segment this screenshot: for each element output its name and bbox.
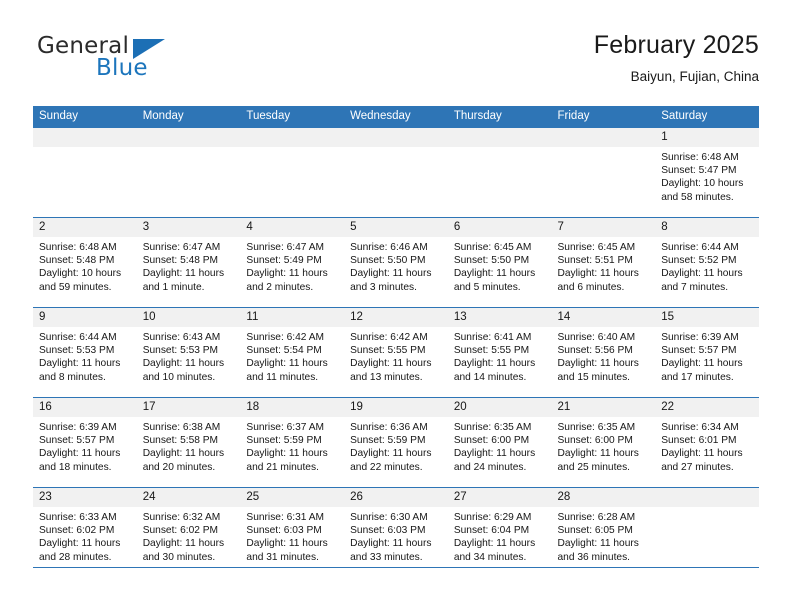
day-number: 9 — [33, 308, 137, 327]
sunrise-time: Sunrise: 6:30 AM — [350, 511, 442, 524]
day-details: Sunrise: 6:41 AMSunset: 5:55 PMDaylight:… — [448, 327, 552, 384]
weekday-header-saturday: Saturday — [655, 106, 759, 128]
daylight-duration-line1: Daylight: 11 hours — [661, 447, 753, 460]
calendar-page: General Blue February 2025 Baiyun, Fujia… — [0, 0, 792, 612]
day-cell: 28Sunrise: 6:28 AMSunset: 6:05 PMDayligh… — [552, 488, 656, 567]
day-details: Sunrise: 6:42 AMSunset: 5:55 PMDaylight:… — [344, 327, 448, 384]
calendar-cell-empty — [344, 128, 448, 218]
day-number: 7 — [552, 218, 656, 237]
daylight-duration-line2: and 10 minutes. — [143, 371, 235, 384]
day-details: Sunrise: 6:39 AMSunset: 5:57 PMDaylight:… — [33, 417, 137, 474]
daylight-duration-line1: Daylight: 11 hours — [350, 357, 442, 370]
calendar-cell-day[interactable]: 18Sunrise: 6:37 AMSunset: 5:59 PMDayligh… — [240, 398, 344, 488]
day-number: 20 — [448, 398, 552, 417]
day-details: Sunrise: 6:43 AMSunset: 5:53 PMDaylight:… — [137, 327, 241, 384]
page-header: General Blue February 2025 Baiyun, Fujia… — [33, 28, 759, 98]
day-cell: 18Sunrise: 6:37 AMSunset: 5:59 PMDayligh… — [240, 398, 344, 487]
day-details: Sunrise: 6:35 AMSunset: 6:00 PMDaylight:… — [552, 417, 656, 474]
day-cell: 16Sunrise: 6:39 AMSunset: 5:57 PMDayligh… — [33, 398, 137, 487]
calendar-week-row: 16Sunrise: 6:39 AMSunset: 5:57 PMDayligh… — [33, 398, 759, 488]
calendar-cell-day[interactable]: 8Sunrise: 6:44 AMSunset: 5:52 PMDaylight… — [655, 218, 759, 308]
day-cell: 24Sunrise: 6:32 AMSunset: 6:02 PMDayligh… — [137, 488, 241, 567]
daylight-duration-line2: and 7 minutes. — [661, 281, 753, 294]
calendar-cell-empty — [137, 128, 241, 218]
calendar-cell-day[interactable]: 5Sunrise: 6:46 AMSunset: 5:50 PMDaylight… — [344, 218, 448, 308]
day-number: 24 — [137, 488, 241, 507]
daylight-duration-line2: and 18 minutes. — [39, 461, 131, 474]
sunrise-time: Sunrise: 6:47 AM — [246, 241, 338, 254]
page-title: February 2025 — [594, 28, 759, 62]
day-number: 11 — [240, 308, 344, 327]
calendar-cell-empty — [240, 128, 344, 218]
calendar-cell-day[interactable]: 7Sunrise: 6:45 AMSunset: 5:51 PMDaylight… — [552, 218, 656, 308]
daylight-duration-line1: Daylight: 11 hours — [143, 357, 235, 370]
daylight-duration-line2: and 30 minutes. — [143, 551, 235, 564]
day-details: Sunrise: 6:47 AMSunset: 5:48 PMDaylight:… — [137, 237, 241, 294]
sunrise-time: Sunrise: 6:31 AM — [246, 511, 338, 524]
daylight-duration-line2: and 14 minutes. — [454, 371, 546, 384]
day-number: 15 — [655, 308, 759, 327]
sunset-time: Sunset: 5:55 PM — [454, 344, 546, 357]
calendar-cell-day[interactable]: 1Sunrise: 6:48 AMSunset: 5:47 PMDaylight… — [655, 128, 759, 218]
daylight-duration-line2: and 28 minutes. — [39, 551, 131, 564]
daylight-duration-line1: Daylight: 11 hours — [661, 267, 753, 280]
daylight-duration-line2: and 25 minutes. — [558, 461, 650, 474]
day-cell: 5Sunrise: 6:46 AMSunset: 5:50 PMDaylight… — [344, 218, 448, 307]
day-cell: 23Sunrise: 6:33 AMSunset: 6:02 PMDayligh… — [33, 488, 137, 567]
day-details: Sunrise: 6:42 AMSunset: 5:54 PMDaylight:… — [240, 327, 344, 384]
daylight-duration-line2: and 11 minutes. — [246, 371, 338, 384]
day-cell: 4Sunrise: 6:47 AMSunset: 5:49 PMDaylight… — [240, 218, 344, 307]
sunrise-time: Sunrise: 6:28 AM — [558, 511, 650, 524]
weekday-header-row: Sunday Monday Tuesday Wednesday Thursday… — [33, 106, 759, 128]
daylight-duration-line2: and 21 minutes. — [246, 461, 338, 474]
daylight-duration-line1: Daylight: 11 hours — [454, 447, 546, 460]
sunrise-time: Sunrise: 6:34 AM — [661, 421, 753, 434]
calendar-week-row: 9Sunrise: 6:44 AMSunset: 5:53 PMDaylight… — [33, 308, 759, 398]
day-number: 5 — [344, 218, 448, 237]
sunset-time: Sunset: 5:59 PM — [246, 434, 338, 447]
daylight-duration-line1: Daylight: 10 hours — [39, 267, 131, 280]
day-details: Sunrise: 6:35 AMSunset: 6:00 PMDaylight:… — [448, 417, 552, 474]
sunrise-sunset-calendar: Sunday Monday Tuesday Wednesday Thursday… — [33, 106, 759, 568]
sunrise-time: Sunrise: 6:42 AM — [246, 331, 338, 344]
sunset-time: Sunset: 6:00 PM — [558, 434, 650, 447]
sunset-time: Sunset: 5:54 PM — [246, 344, 338, 357]
day-number — [448, 128, 552, 147]
weekday-header-sunday: Sunday — [33, 106, 137, 128]
calendar-cell-day[interactable]: 9Sunrise: 6:44 AMSunset: 5:53 PMDaylight… — [33, 308, 137, 398]
sunset-time: Sunset: 6:03 PM — [246, 524, 338, 537]
sunset-time: Sunset: 6:02 PM — [39, 524, 131, 537]
sunset-time: Sunset: 5:53 PM — [39, 344, 131, 357]
sunrise-time: Sunrise: 6:43 AM — [143, 331, 235, 344]
location-subtitle: Baiyun, Fujian, China — [594, 67, 759, 87]
day-cell: 9Sunrise: 6:44 AMSunset: 5:53 PMDaylight… — [33, 308, 137, 397]
calendar-cell-empty — [552, 128, 656, 218]
sunrise-time: Sunrise: 6:46 AM — [350, 241, 442, 254]
sunrise-time: Sunrise: 6:45 AM — [558, 241, 650, 254]
sunset-time: Sunset: 6:02 PM — [143, 524, 235, 537]
day-details: Sunrise: 6:32 AMSunset: 6:02 PMDaylight:… — [137, 507, 241, 564]
sunrise-time: Sunrise: 6:42 AM — [350, 331, 442, 344]
day-details: Sunrise: 6:45 AMSunset: 5:50 PMDaylight:… — [448, 237, 552, 294]
sunset-time: Sunset: 5:55 PM — [350, 344, 442, 357]
day-cell: 15Sunrise: 6:39 AMSunset: 5:57 PMDayligh… — [655, 308, 759, 397]
calendar-cell-day[interactable]: 22Sunrise: 6:34 AMSunset: 6:01 PMDayligh… — [655, 398, 759, 488]
day-details: Sunrise: 6:40 AMSunset: 5:56 PMDaylight:… — [552, 327, 656, 384]
daylight-duration-line1: Daylight: 11 hours — [350, 447, 442, 460]
daylight-duration-line1: Daylight: 11 hours — [143, 537, 235, 550]
day-details: Sunrise: 6:29 AMSunset: 6:04 PMDaylight:… — [448, 507, 552, 564]
day-number — [344, 128, 448, 147]
calendar-cell-day[interactable]: 20Sunrise: 6:35 AMSunset: 6:00 PMDayligh… — [448, 398, 552, 488]
daylight-duration-line1: Daylight: 11 hours — [454, 267, 546, 280]
day-number: 23 — [33, 488, 137, 507]
day-cell: 25Sunrise: 6:31 AMSunset: 6:03 PMDayligh… — [240, 488, 344, 567]
day-number — [137, 128, 241, 147]
sunset-time: Sunset: 6:00 PM — [454, 434, 546, 447]
sunset-time: Sunset: 5:57 PM — [39, 434, 131, 447]
sunrise-time: Sunrise: 6:38 AM — [143, 421, 235, 434]
sunset-time: Sunset: 5:57 PM — [661, 344, 753, 357]
day-details: Sunrise: 6:44 AMSunset: 5:53 PMDaylight:… — [33, 327, 137, 384]
day-cell: 12Sunrise: 6:42 AMSunset: 5:55 PMDayligh… — [344, 308, 448, 397]
day-number: 19 — [344, 398, 448, 417]
sunrise-time: Sunrise: 6:44 AM — [39, 331, 131, 344]
generalblue-logo[interactable]: General Blue — [37, 33, 237, 89]
sunset-time: Sunset: 5:50 PM — [454, 254, 546, 267]
day-cell: 11Sunrise: 6:42 AMSunset: 5:54 PMDayligh… — [240, 308, 344, 397]
day-details: Sunrise: 6:47 AMSunset: 5:49 PMDaylight:… — [240, 237, 344, 294]
day-cell: 22Sunrise: 6:34 AMSunset: 6:01 PMDayligh… — [655, 398, 759, 487]
calendar-cell-day[interactable]: 4Sunrise: 6:47 AMSunset: 5:49 PMDaylight… — [240, 218, 344, 308]
sunset-time: Sunset: 5:51 PM — [558, 254, 650, 267]
sunset-time: Sunset: 5:58 PM — [143, 434, 235, 447]
sunrise-time: Sunrise: 6:35 AM — [454, 421, 546, 434]
sunset-time: Sunset: 5:52 PM — [661, 254, 753, 267]
day-number: 25 — [240, 488, 344, 507]
sunrise-time: Sunrise: 6:36 AM — [350, 421, 442, 434]
calendar-cell-day[interactable]: 3Sunrise: 6:47 AMSunset: 5:48 PMDaylight… — [137, 218, 241, 308]
calendar-week-row: 1Sunrise: 6:48 AMSunset: 5:47 PMDaylight… — [33, 128, 759, 218]
day-cell — [552, 128, 656, 217]
sunset-time: Sunset: 6:05 PM — [558, 524, 650, 537]
sunset-time: Sunset: 5:49 PM — [246, 254, 338, 267]
day-number: 2 — [33, 218, 137, 237]
daylight-duration-line1: Daylight: 11 hours — [558, 357, 650, 370]
day-cell: 19Sunrise: 6:36 AMSunset: 5:59 PMDayligh… — [344, 398, 448, 487]
brand-name-blue: Blue — [96, 55, 148, 81]
daylight-duration-line1: Daylight: 11 hours — [558, 447, 650, 460]
calendar-cell-empty — [33, 128, 137, 218]
sunrise-time: Sunrise: 6:35 AM — [558, 421, 650, 434]
day-details: Sunrise: 6:31 AMSunset: 6:03 PMDaylight:… — [240, 507, 344, 564]
day-cell: 2Sunrise: 6:48 AMSunset: 5:48 PMDaylight… — [33, 218, 137, 307]
calendar-cell-day[interactable]: 25Sunrise: 6:31 AMSunset: 6:03 PMDayligh… — [240, 488, 344, 568]
daylight-duration-line2: and 20 minutes. — [143, 461, 235, 474]
day-cell — [137, 128, 241, 217]
day-number: 17 — [137, 398, 241, 417]
daylight-duration-line1: Daylight: 11 hours — [558, 267, 650, 280]
day-cell: 10Sunrise: 6:43 AMSunset: 5:53 PMDayligh… — [137, 308, 241, 397]
day-details: Sunrise: 6:33 AMSunset: 6:02 PMDaylight:… — [33, 507, 137, 564]
sunset-time: Sunset: 6:01 PM — [661, 434, 753, 447]
sunrise-time: Sunrise: 6:33 AM — [39, 511, 131, 524]
day-cell — [344, 128, 448, 217]
daylight-duration-line2: and 6 minutes. — [558, 281, 650, 294]
daylight-duration-line2: and 15 minutes. — [558, 371, 650, 384]
sunset-time: Sunset: 5:53 PM — [143, 344, 235, 357]
day-number: 8 — [655, 218, 759, 237]
calendar-week-row: 2Sunrise: 6:48 AMSunset: 5:48 PMDaylight… — [33, 218, 759, 308]
calendar-cell-day[interactable]: 11Sunrise: 6:42 AMSunset: 5:54 PMDayligh… — [240, 308, 344, 398]
day-details: Sunrise: 6:37 AMSunset: 5:59 PMDaylight:… — [240, 417, 344, 474]
day-number: 28 — [552, 488, 656, 507]
calendar-cell-empty — [655, 488, 759, 568]
weekday-header-monday: Monday — [137, 106, 241, 128]
daylight-duration-line1: Daylight: 11 hours — [350, 537, 442, 550]
day-number: 27 — [448, 488, 552, 507]
calendar-cell-day[interactable]: 27Sunrise: 6:29 AMSunset: 6:04 PMDayligh… — [448, 488, 552, 568]
daylight-duration-line1: Daylight: 11 hours — [246, 537, 338, 550]
calendar-cell-day[interactable]: 15Sunrise: 6:39 AMSunset: 5:57 PMDayligh… — [655, 308, 759, 398]
daylight-duration-line1: Daylight: 11 hours — [558, 537, 650, 550]
calendar-cell-day[interactable]: 2Sunrise: 6:48 AMSunset: 5:48 PMDaylight… — [33, 218, 137, 308]
title-block: February 2025 Baiyun, Fujian, China — [594, 28, 759, 87]
day-number: 12 — [344, 308, 448, 327]
daylight-duration-line2: and 5 minutes. — [454, 281, 546, 294]
daylight-duration-line1: Daylight: 11 hours — [246, 267, 338, 280]
sunrise-time: Sunrise: 6:47 AM — [143, 241, 235, 254]
day-number — [240, 128, 344, 147]
daylight-duration-line2: and 8 minutes. — [39, 371, 131, 384]
day-cell — [655, 488, 759, 567]
calendar-cell-day[interactable]: 14Sunrise: 6:40 AMSunset: 5:56 PMDayligh… — [552, 308, 656, 398]
daylight-duration-line1: Daylight: 11 hours — [246, 357, 338, 370]
daylight-duration-line1: Daylight: 11 hours — [39, 537, 131, 550]
calendar-cell-day[interactable]: 13Sunrise: 6:41 AMSunset: 5:55 PMDayligh… — [448, 308, 552, 398]
daylight-duration-line1: Daylight: 10 hours — [661, 177, 753, 190]
day-number — [33, 128, 137, 147]
calendar-cell-day[interactable]: 17Sunrise: 6:38 AMSunset: 5:58 PMDayligh… — [137, 398, 241, 488]
daylight-duration-line1: Daylight: 11 hours — [143, 447, 235, 460]
day-number: 18 — [240, 398, 344, 417]
day-cell: 3Sunrise: 6:47 AMSunset: 5:48 PMDaylight… — [137, 218, 241, 307]
sunrise-time: Sunrise: 6:39 AM — [661, 331, 753, 344]
daylight-duration-line1: Daylight: 11 hours — [350, 267, 442, 280]
day-number: 16 — [33, 398, 137, 417]
daylight-duration-line2: and 31 minutes. — [246, 551, 338, 564]
day-number — [552, 128, 656, 147]
daylight-duration-line2: and 33 minutes. — [350, 551, 442, 564]
weekday-header-friday: Friday — [552, 106, 656, 128]
daylight-duration-line2: and 58 minutes. — [661, 191, 753, 204]
calendar-cell-day[interactable]: 19Sunrise: 6:36 AMSunset: 5:59 PMDayligh… — [344, 398, 448, 488]
day-details: Sunrise: 6:28 AMSunset: 6:05 PMDaylight:… — [552, 507, 656, 564]
daylight-duration-line2: and 27 minutes. — [661, 461, 753, 474]
day-cell: 14Sunrise: 6:40 AMSunset: 5:56 PMDayligh… — [552, 308, 656, 397]
day-cell: 17Sunrise: 6:38 AMSunset: 5:58 PMDayligh… — [137, 398, 241, 487]
calendar-cell-day[interactable]: 21Sunrise: 6:35 AMSunset: 6:00 PMDayligh… — [552, 398, 656, 488]
sunrise-time: Sunrise: 6:44 AM — [661, 241, 753, 254]
day-cell: 8Sunrise: 6:44 AMSunset: 5:52 PMDaylight… — [655, 218, 759, 307]
day-cell: 27Sunrise: 6:29 AMSunset: 6:04 PMDayligh… — [448, 488, 552, 567]
day-number: 14 — [552, 308, 656, 327]
calendar-cell-day[interactable]: 26Sunrise: 6:30 AMSunset: 6:03 PMDayligh… — [344, 488, 448, 568]
sunrise-time: Sunrise: 6:39 AM — [39, 421, 131, 434]
day-details: Sunrise: 6:38 AMSunset: 5:58 PMDaylight:… — [137, 417, 241, 474]
weekday-header-tuesday: Tuesday — [240, 106, 344, 128]
day-number: 10 — [137, 308, 241, 327]
day-number: 26 — [344, 488, 448, 507]
daylight-duration-line2: and 24 minutes. — [454, 461, 546, 474]
sunset-time: Sunset: 5:56 PM — [558, 344, 650, 357]
calendar-week-row: 23Sunrise: 6:33 AMSunset: 6:02 PMDayligh… — [33, 488, 759, 568]
daylight-duration-line1: Daylight: 11 hours — [39, 447, 131, 460]
daylight-duration-line2: and 36 minutes. — [558, 551, 650, 564]
daylight-duration-line2: and 59 minutes. — [39, 281, 131, 294]
sunset-time: Sunset: 6:03 PM — [350, 524, 442, 537]
daylight-duration-line2: and 17 minutes. — [661, 371, 753, 384]
day-number: 3 — [137, 218, 241, 237]
calendar-cell-day[interactable]: 10Sunrise: 6:43 AMSunset: 5:53 PMDayligh… — [137, 308, 241, 398]
daylight-duration-line2: and 13 minutes. — [350, 371, 442, 384]
daylight-duration-line1: Daylight: 11 hours — [39, 357, 131, 370]
daylight-duration-line1: Daylight: 11 hours — [454, 537, 546, 550]
day-cell: 26Sunrise: 6:30 AMSunset: 6:03 PMDayligh… — [344, 488, 448, 567]
calendar-cell-empty — [448, 128, 552, 218]
day-cell — [448, 128, 552, 217]
sunset-time: Sunset: 5:48 PM — [39, 254, 131, 267]
daylight-duration-line2: and 22 minutes. — [350, 461, 442, 474]
sunset-time: Sunset: 5:59 PM — [350, 434, 442, 447]
sunset-time: Sunset: 5:47 PM — [661, 164, 753, 177]
sunrise-time: Sunrise: 6:37 AM — [246, 421, 338, 434]
day-details: Sunrise: 6:48 AMSunset: 5:47 PMDaylight:… — [655, 147, 759, 204]
calendar-cell-day[interactable]: 6Sunrise: 6:45 AMSunset: 5:50 PMDaylight… — [448, 218, 552, 308]
calendar-body: 1Sunrise: 6:48 AMSunset: 5:47 PMDaylight… — [33, 128, 759, 568]
sunrise-time: Sunrise: 6:29 AM — [454, 511, 546, 524]
day-details: Sunrise: 6:36 AMSunset: 5:59 PMDaylight:… — [344, 417, 448, 474]
day-details: Sunrise: 6:45 AMSunset: 5:51 PMDaylight:… — [552, 237, 656, 294]
day-cell: 6Sunrise: 6:45 AMSunset: 5:50 PMDaylight… — [448, 218, 552, 307]
day-details: Sunrise: 6:48 AMSunset: 5:48 PMDaylight:… — [33, 237, 137, 294]
sunrise-time: Sunrise: 6:45 AM — [454, 241, 546, 254]
calendar-cell-day[interactable]: 24Sunrise: 6:32 AMSunset: 6:02 PMDayligh… — [137, 488, 241, 568]
daylight-duration-line1: Daylight: 11 hours — [246, 447, 338, 460]
calendar-cell-day[interactable]: 12Sunrise: 6:42 AMSunset: 5:55 PMDayligh… — [344, 308, 448, 398]
day-cell: 21Sunrise: 6:35 AMSunset: 6:00 PMDayligh… — [552, 398, 656, 487]
day-number: 1 — [655, 128, 759, 147]
day-details: Sunrise: 6:46 AMSunset: 5:50 PMDaylight:… — [344, 237, 448, 294]
day-cell: 1Sunrise: 6:48 AMSunset: 5:47 PMDaylight… — [655, 128, 759, 217]
sunset-time: Sunset: 6:04 PM — [454, 524, 546, 537]
weekday-header-wednesday: Wednesday — [344, 106, 448, 128]
day-cell — [33, 128, 137, 217]
day-details: Sunrise: 6:44 AMSunset: 5:52 PMDaylight:… — [655, 237, 759, 294]
day-number: 13 — [448, 308, 552, 327]
daylight-duration-line2: and 2 minutes. — [246, 281, 338, 294]
day-cell: 20Sunrise: 6:35 AMSunset: 6:00 PMDayligh… — [448, 398, 552, 487]
daylight-duration-line1: Daylight: 11 hours — [454, 357, 546, 370]
sunrise-time: Sunrise: 6:32 AM — [143, 511, 235, 524]
daylight-duration-line1: Daylight: 11 hours — [143, 267, 235, 280]
calendar-cell-day[interactable]: 28Sunrise: 6:28 AMSunset: 6:05 PMDayligh… — [552, 488, 656, 568]
day-cell: 7Sunrise: 6:45 AMSunset: 5:51 PMDaylight… — [552, 218, 656, 307]
sunrise-time: Sunrise: 6:40 AM — [558, 331, 650, 344]
day-details: Sunrise: 6:34 AMSunset: 6:01 PMDaylight:… — [655, 417, 759, 474]
day-number — [655, 488, 759, 507]
day-number: 22 — [655, 398, 759, 417]
calendar-cell-day[interactable]: 23Sunrise: 6:33 AMSunset: 6:02 PMDayligh… — [33, 488, 137, 568]
sunrise-time: Sunrise: 6:48 AM — [39, 241, 131, 254]
day-number: 21 — [552, 398, 656, 417]
sunrise-time: Sunrise: 6:48 AM — [661, 151, 753, 164]
daylight-duration-line2: and 3 minutes. — [350, 281, 442, 294]
sunset-time: Sunset: 5:50 PM — [350, 254, 442, 267]
calendar-cell-day[interactable]: 16Sunrise: 6:39 AMSunset: 5:57 PMDayligh… — [33, 398, 137, 488]
day-details: Sunrise: 6:39 AMSunset: 5:57 PMDaylight:… — [655, 327, 759, 384]
day-number: 6 — [448, 218, 552, 237]
day-number: 4 — [240, 218, 344, 237]
sunset-time: Sunset: 5:48 PM — [143, 254, 235, 267]
sunrise-time: Sunrise: 6:41 AM — [454, 331, 546, 344]
day-cell: 13Sunrise: 6:41 AMSunset: 5:55 PMDayligh… — [448, 308, 552, 397]
day-cell — [240, 128, 344, 217]
daylight-duration-line1: Daylight: 11 hours — [661, 357, 753, 370]
weekday-header-thursday: Thursday — [448, 106, 552, 128]
daylight-duration-line2: and 1 minute. — [143, 281, 235, 294]
daylight-duration-line2: and 34 minutes. — [454, 551, 546, 564]
day-details: Sunrise: 6:30 AMSunset: 6:03 PMDaylight:… — [344, 507, 448, 564]
